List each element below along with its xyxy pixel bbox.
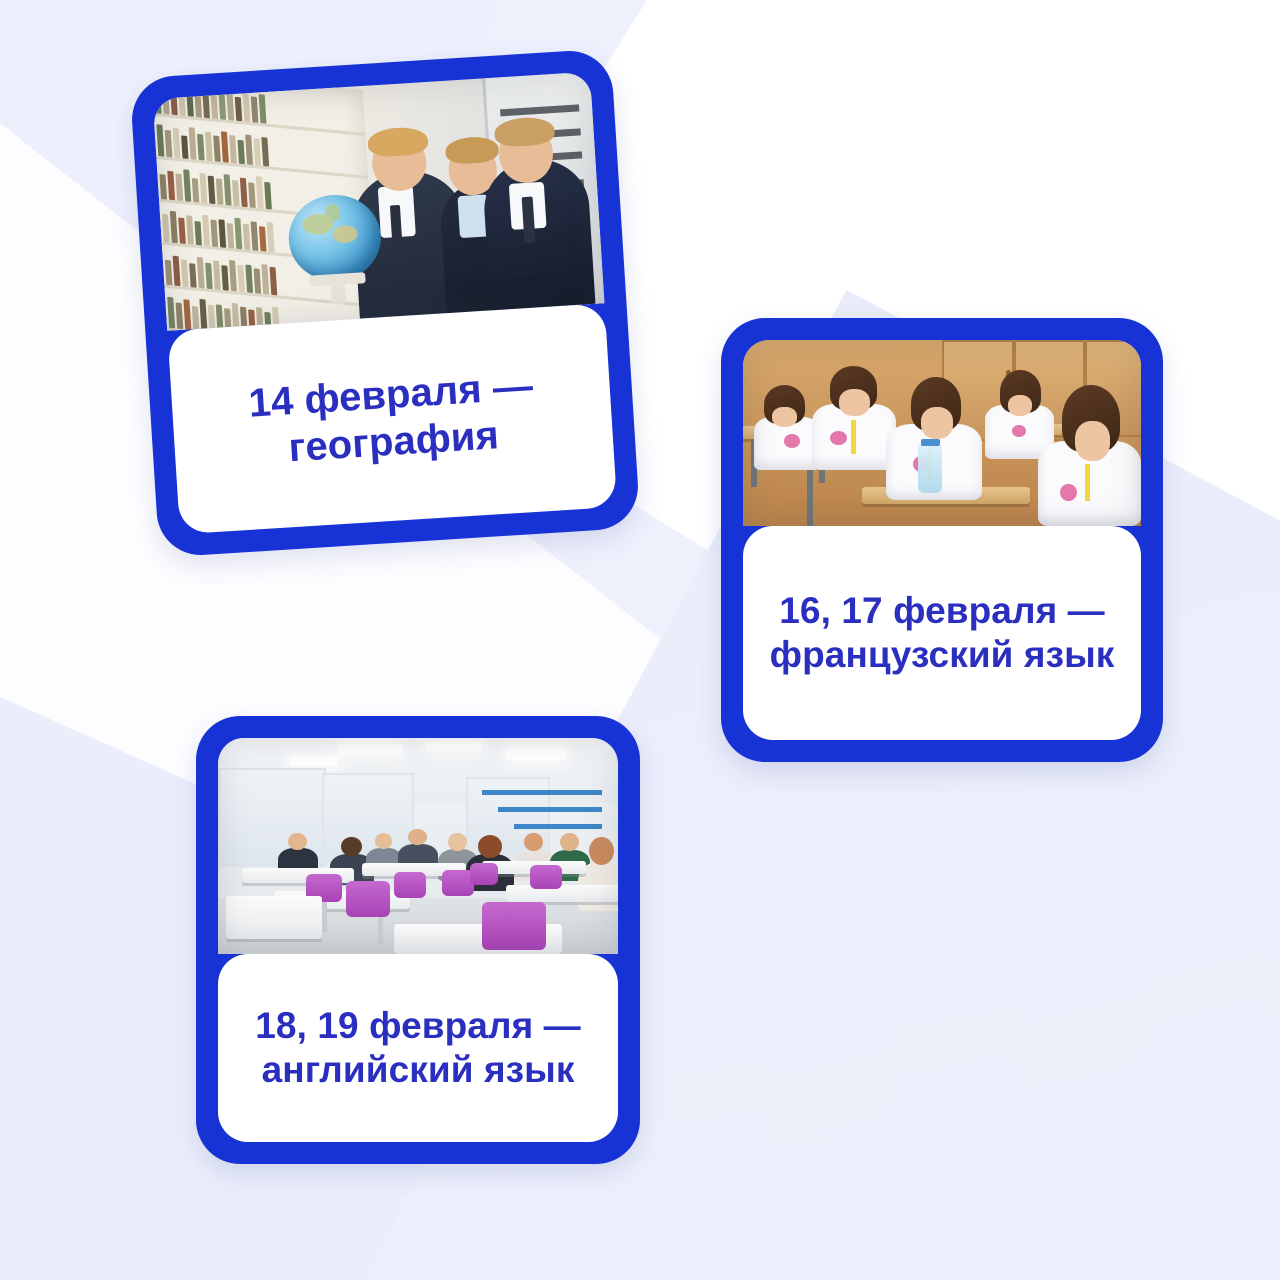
caption-panel-english: 18, 19 февраля — английский язык (218, 954, 618, 1142)
card-english[interactable]: 18, 19 февраля — английский язык (196, 716, 640, 1164)
card-geography[interactable]: 14 февраля — география (129, 48, 640, 557)
caption-panel-french: 16, 17 февраля — французский язык (743, 526, 1141, 740)
exam-classroom-photo (743, 340, 1141, 526)
poster-canvas: 14 февраля — география (0, 0, 1280, 1280)
library-globe-photo (153, 72, 605, 331)
caption-text-geography: 14 февраля — география (189, 359, 596, 478)
caption-text-english: 18, 19 февраля — английский язык (236, 1004, 600, 1091)
lecture-hall-photo (218, 738, 618, 954)
caption-panel-geography: 14 февраля — география (167, 303, 617, 534)
card-french[interactable]: 16, 17 февраля — французский язык (721, 318, 1163, 762)
caption-text-french: 16, 17 февраля — французский язык (761, 589, 1123, 676)
